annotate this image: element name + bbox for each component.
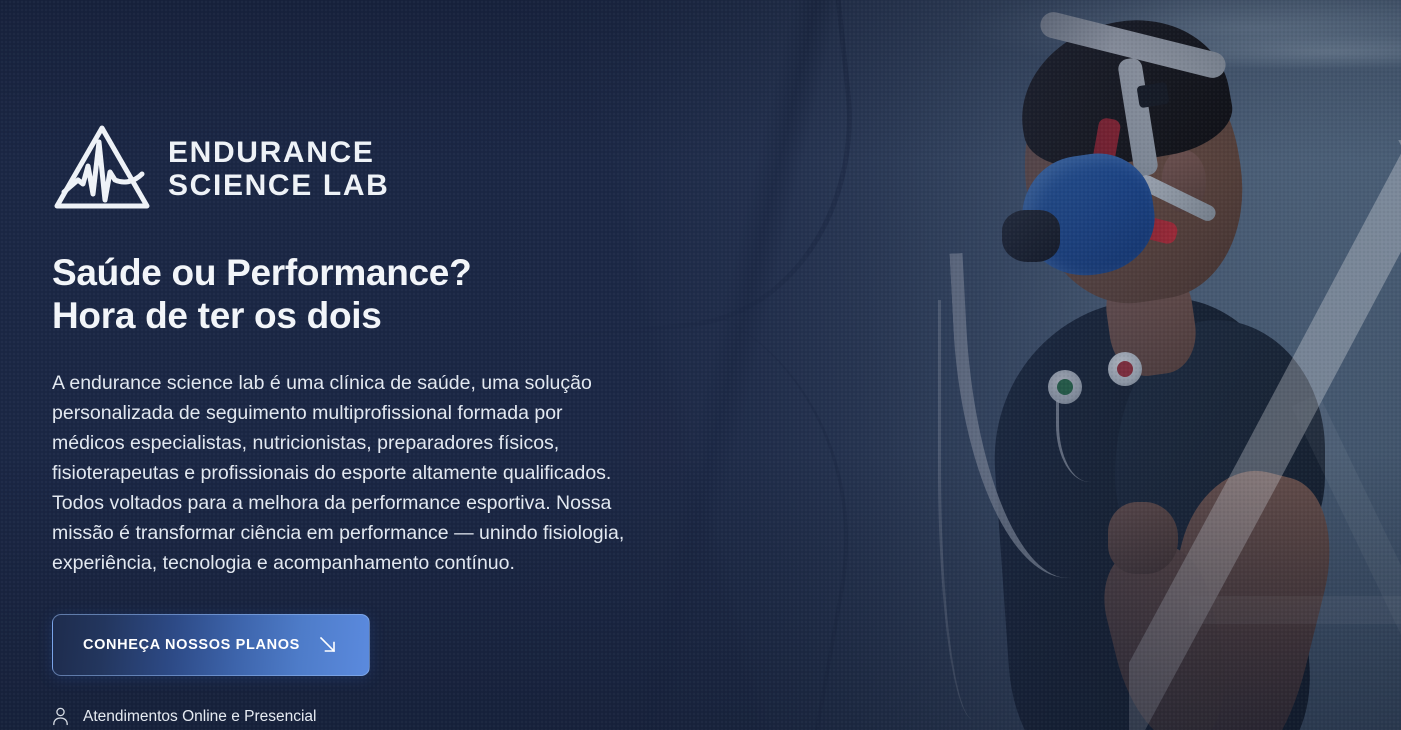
service-modes-label: Atendimentos Online e Presencial (83, 708, 317, 726)
cta-label: CONHEÇA NOSSOS PLANOS (83, 637, 300, 653)
brand-wordmark-line1: ENDURANCE (168, 136, 375, 169)
hero-headline: Saúde ou Performance? Hora de ter os doi… (52, 251, 742, 338)
arrow-down-right-icon (317, 634, 339, 656)
service-modes-note: Atendimentos Online e Presencial (52, 707, 742, 726)
mountain-ecg-logo-icon (52, 122, 152, 217)
brand-wordmark-line2: SCIENCE LAB (168, 169, 390, 202)
hero-content: ENDURANCE SCIENCE LAB Saúde ou Performan… (52, 0, 742, 730)
brand-wordmark: ENDURANCE SCIENCE LAB (168, 137, 390, 201)
person-icon (52, 707, 69, 726)
cta-conheca-nossos-planos-button[interactable]: CONHEÇA NOSSOS PLANOS (52, 614, 370, 676)
hero-section: ENDURANCE SCIENCE LAB Saúde ou Performan… (0, 0, 1401, 730)
hero-paragraph: A endurance science lab é uma clínica de… (52, 368, 692, 579)
brand-logo-lockup[interactable]: ENDURANCE SCIENCE LAB (52, 122, 742, 217)
